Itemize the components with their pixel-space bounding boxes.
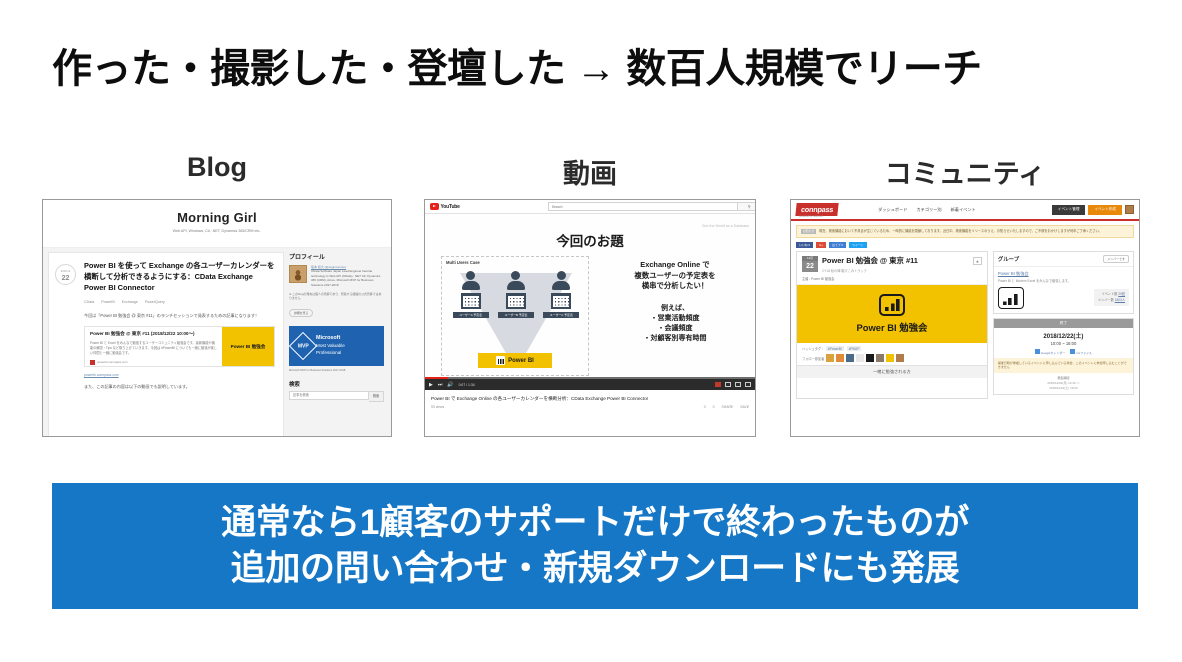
power-bi-icon xyxy=(879,294,905,316)
avatar[interactable] xyxy=(866,354,874,362)
mvp-badge-banner: MVP Microsoft Most Valuable Professional xyxy=(289,326,384,366)
event-sidebar: グループ メンバーです Power BI 勉強会 Power BI と Mode… xyxy=(993,251,1134,399)
column-header-video: 動画 xyxy=(424,152,756,191)
google-plus-button[interactable]: G+ xyxy=(816,242,826,248)
search-icon[interactable]: ⚲ xyxy=(738,202,756,211)
banner-line-1: 通常なら1顧客のサポートだけで終わったものが xyxy=(221,500,969,546)
youtube-logo[interactable]: YouTube xyxy=(430,203,460,210)
person-icon xyxy=(466,271,475,280)
embed-card-source: powerbi.connpass.com xyxy=(90,360,217,365)
google-calendar-link[interactable]: Googleカレンダー xyxy=(1035,349,1066,355)
slide-root: 作った・撮影した・登壇した → 数百人規模でリーチ Blog 動画 コミュニティ… xyxy=(0,0,1182,662)
members-count-value[interactable]: 1803人 xyxy=(1115,298,1125,302)
avatar[interactable] xyxy=(836,354,844,362)
fullscreen-icon[interactable] xyxy=(745,382,751,387)
blog-header: Morning Girl Web API, Windows, C#, .NET,… xyxy=(43,200,391,248)
avatar[interactable] xyxy=(846,354,854,362)
diagram-label: Multi Users Case xyxy=(446,260,480,265)
mvp-line1: Most Valuable xyxy=(316,342,345,349)
user-label: ユーザーA 予定表 xyxy=(453,312,489,318)
video-views: 93 views xyxy=(431,405,444,409)
person-icon xyxy=(511,271,520,280)
blog-sidebar: プロフィール 坂本 和大 (@sugimomoto) CData Softwar… xyxy=(289,252,384,437)
blog-site-title: Morning Girl xyxy=(43,200,391,225)
share-button[interactable]: SHARE xyxy=(722,405,734,409)
notice-text: 現在、検索機能において不具合が生じているため、一時的に機能を閉鎖しております。近… xyxy=(819,229,1102,234)
youtube-wordmark: YouTube xyxy=(441,204,460,210)
group-card: グループ メンバーです Power BI 勉強会 Power BI と Mode… xyxy=(993,251,1134,314)
calendar-icon xyxy=(1070,349,1075,354)
youtube-play-icon xyxy=(430,203,439,210)
slide-tagline: See the World as a Database xyxy=(702,224,749,229)
member-badge[interactable]: メンバーです xyxy=(1103,255,1129,263)
nav-new-events[interactable]: 新着イベント xyxy=(951,207,976,213)
avatar[interactable] xyxy=(876,354,884,362)
theater-icon[interactable] xyxy=(735,382,741,387)
search-button[interactable]: 検索 xyxy=(369,391,384,402)
blog-screenshot: Morning Girl Web API, Windows, C#, .NET,… xyxy=(42,199,392,437)
blog-tag[interactable]: CData xyxy=(84,300,94,304)
members-count-label: メンバー数 xyxy=(1098,298,1114,302)
play-icon[interactable]: ▶ xyxy=(429,382,433,388)
mvp-diamond-icon: MVP xyxy=(289,331,317,359)
schedule-card: 終了 2018/12/22(土) 10:00 ~ 18:00 Googleカレン… xyxy=(993,318,1134,395)
facebook-like-button[interactable]: いいね 0 xyxy=(796,242,813,248)
join-row[interactable]: 一緒に勉強される方 xyxy=(797,365,987,378)
hashtag[interactable]: #PowerBI xyxy=(826,346,844,351)
page-title: 作った・撮影した・登壇した → 数百人規模でリーチ xyxy=(52,36,982,94)
dislike-button[interactable]: 0 xyxy=(713,405,715,409)
group-stats: イベント数 20回 メンバー数 1803人 xyxy=(1094,289,1129,306)
group-name-link[interactable]: Power BI 勉強会 xyxy=(998,271,1129,277)
follow-label: フォロー参加者 xyxy=(802,356,824,361)
user-label: ユーザーB 予定表 xyxy=(498,312,534,318)
period-value: 2018/12/03(月) 12:30 ～ 2018/12/22(土) 19:0… xyxy=(994,381,1133,391)
video-player[interactable]: See the World as a Database 今回のお題 Multi … xyxy=(425,214,755,390)
blog-profile-note: ※ このblogの発言は個人の見解であり、所属する組織の公式見解ではありません xyxy=(289,292,384,301)
youtube-search-input[interactable] xyxy=(548,202,738,211)
nav-dashboard[interactable]: ダッシュボード xyxy=(878,207,907,213)
blog-footer-text: また、この記事の内容は以下の動画でも説明しています。 xyxy=(84,384,275,390)
event-subtitle: CY18 秋の陣 駆けこみトラック xyxy=(822,268,918,273)
player-time: 0:07 / 1:34 xyxy=(459,383,475,387)
event-date-badge: 12月 22 xyxy=(802,256,818,272)
mvp-line2: Professional xyxy=(316,349,345,356)
group-heading: グループ xyxy=(998,255,1019,263)
hashtag-row: ハッシュタグ : #PowerBI #PBIJP xyxy=(797,343,987,354)
person-icon xyxy=(557,271,566,280)
embed-card-desc: Power BI と Excel をみんなで勉強するユーザーコミュニティ勉強会で… xyxy=(90,341,217,356)
blog-site-subtitle: Web API, Windows, C#, .NET, Dynamics 365… xyxy=(43,229,391,233)
volume-icon[interactable]: 🔊 xyxy=(447,382,453,388)
schedule-warning: 開催日時が重複しているイベントに申し込んでいる場合、このイベントに参加申し込むこ… xyxy=(994,358,1133,373)
next-icon[interactable]: ⏭ xyxy=(438,382,443,388)
video-slide-frame: See the World as a Database 今回のお題 Multi … xyxy=(425,214,755,390)
slide-right-body: 例えば、 ・営業活動頻度 ・会議頻度 ・対顧客別専有時間 xyxy=(603,304,747,344)
column-header-blog: Blog xyxy=(42,152,392,183)
blog-tag[interactable]: PowerQuery xyxy=(145,300,165,304)
calendar-icon xyxy=(461,293,481,309)
ics-file-link[interactable]: icsファイル xyxy=(1070,349,1092,355)
summary-banner: 通常なら1顧客のサポートだけで終わったものが 追加の問い合わせ・新規ダウンロード… xyxy=(52,483,1138,609)
avatar xyxy=(289,265,307,283)
event-main: ★ 12月 22 Power BI 勉強会 @ 東京 #11 CY18 秋の陣 … xyxy=(796,251,988,399)
avatar[interactable] xyxy=(896,354,904,362)
mvp-brand: Microsoft xyxy=(316,335,340,341)
event-date: 2018/12/22(土) xyxy=(994,328,1133,341)
embed-card-thumb: Power BI 勉強会 xyxy=(222,327,274,366)
events-count-value[interactable]: 20回 xyxy=(1118,292,1125,296)
manage-event-button[interactable]: イベント管理 xyxy=(1052,205,1086,215)
user-node: ユーザーC 予定表 xyxy=(543,271,579,318)
registration-period: 募集期間 2018/12/03(月) 12:30 ～ 2018/12/22(土)… xyxy=(994,373,1133,394)
blog-tag[interactable]: PowerBI xyxy=(101,300,115,304)
user-node: ユーザーA 予定表 xyxy=(453,271,489,318)
avatar[interactable] xyxy=(886,354,894,362)
nav-categories[interactable]: カテゴリー別 xyxy=(916,207,941,213)
connpass-nav: ダッシュボード カテゴリー別 新着イベント xyxy=(878,207,976,213)
blog-date-badge: 2018.12 22 xyxy=(55,264,76,285)
blog-body: 2018.12 22 Power BI を使って Exchange の各ユーザー… xyxy=(43,248,391,437)
blog-tag-list: CData PowerBI Exchange PowerQuery xyxy=(84,300,275,304)
bookmark-star-icon[interactable]: ★ xyxy=(973,257,982,265)
event-day: 22 xyxy=(802,261,818,272)
user-label: ユーザーC 予定表 xyxy=(543,312,579,318)
video-title: Power BI で Exchange Online の各ユーザーカレンダーを横… xyxy=(431,395,749,402)
blog-profile-heading: プロフィール xyxy=(289,252,384,261)
connpass-header: connpass powered by beproud ダッシュボード カテゴリ… xyxy=(791,200,1139,221)
community-screenshot: connpass powered by beproud ダッシュボード カテゴリ… xyxy=(790,199,1140,437)
hashtag[interactable]: #PBIJP xyxy=(847,346,862,351)
video-screenshot: YouTube ⚲ See the World as a Database 今回… xyxy=(424,199,756,437)
settings-icon[interactable] xyxy=(725,382,731,387)
progress-bar[interactable] xyxy=(425,377,755,379)
avatar[interactable] xyxy=(1125,205,1134,214)
avatar[interactable] xyxy=(826,354,834,362)
calendar-icon xyxy=(1035,349,1040,354)
blog-embed-card[interactable]: Power BI 勉強会 @ 東京 #11 (2018/12/22 10:00〜… xyxy=(84,326,275,367)
search-input[interactable] xyxy=(289,391,369,400)
power-bi-icon xyxy=(496,356,505,365)
power-bi-output-box: Power BI xyxy=(478,353,552,368)
follower-row: フォロー参加者 xyxy=(797,354,987,365)
blog-intro-text: 今回は「Power BI 勉強会 @ 東京 #11」のランチセッションで発表する… xyxy=(84,312,275,319)
blog-tag[interactable]: Exchange xyxy=(122,300,138,304)
blog-article: 2018.12 22 Power BI を使って Exchange の各ユーザー… xyxy=(48,252,284,437)
banner-line-2: 追加の問い合わせ・新規ダウンロードにも発展 xyxy=(231,546,960,592)
embed-card-title: Power BI 勉強会 @ 東京 #11 (2018/12/22 10:00〜… xyxy=(90,331,217,338)
avatar[interactable] xyxy=(856,354,864,362)
user-node: ユーザーB 予定表 xyxy=(498,271,534,318)
connpass-favicon-icon xyxy=(90,360,95,365)
calendar-icon xyxy=(551,293,571,309)
event-title: Power BI 勉強会 @ 東京 #11 xyxy=(822,256,918,266)
events-count-label: イベント数 xyxy=(1101,292,1117,296)
event-banner-text: Power BI 勉強会 xyxy=(857,320,928,334)
captions-icon[interactable] xyxy=(715,382,721,387)
like-button[interactable]: 0 xyxy=(704,405,706,409)
slide-right-heading: Exchange Online で 複数ユーザーの予定表を 横串で分析したい！ xyxy=(603,260,747,292)
blog-external-link[interactable]: powerbi.connpass.com xyxy=(84,373,275,377)
save-button[interactable]: SAVE xyxy=(740,405,749,409)
power-bi-icon xyxy=(998,287,1024,309)
site-notice: お知らせ 現在、検索機能において不具合が生じているため、一時的に機能を閉鎖してお… xyxy=(796,225,1134,238)
status-badge: 終了 xyxy=(994,319,1133,328)
blog-profile-button[interactable]: 詳細を見る xyxy=(289,309,313,317)
blog-search-heading: 検索 xyxy=(289,380,384,388)
hashtag-label: ハッシュタグ : xyxy=(802,346,823,351)
blog-post-title[interactable]: Power BI を使って Exchange の各ユーザーカレンダーを横断して分… xyxy=(84,260,275,293)
column-header-community: コミュニティ xyxy=(790,152,1140,191)
blog-date-month: 2018.12 xyxy=(56,265,75,275)
social-buttons: いいね 0 G+ はてブ 0 ツイート xyxy=(791,242,1139,251)
mvp-caption: Microsoft MVP for Business Solutions 201… xyxy=(289,369,384,372)
slide-heading: 今回のお題 xyxy=(425,230,755,250)
create-event-button[interactable]: イベント作成 xyxy=(1088,205,1122,215)
group-description: Power BI と Modern Excel をみんなで勉強します。 xyxy=(998,279,1129,284)
player-controls[interactable]: ▶ ⏭ 🔊 0:07 / 1:34 xyxy=(425,379,755,390)
multi-users-diagram: Multi Users Case ユーザーA 予定表 ユーザーB 予定表 xyxy=(441,256,589,376)
video-meta: Power BI で Exchange Online の各ユーザーカレンダーを横… xyxy=(425,390,755,414)
youtube-header: YouTube ⚲ xyxy=(425,200,755,214)
blog-date-day: 22 xyxy=(56,275,75,283)
calendar-icon xyxy=(506,293,526,309)
twitter-share-button[interactable]: ツイート xyxy=(849,242,867,248)
breadcrumb: 主催 : Power BI 勉強会 xyxy=(797,276,987,285)
event-banner: Power BI 勉強会 xyxy=(797,285,987,343)
hatena-bookmark-button[interactable]: はてブ 0 xyxy=(829,242,846,248)
notice-label: お知らせ xyxy=(801,229,816,234)
blog-author-link[interactable]: 坂本 和大 (@sugimomoto) xyxy=(311,265,346,269)
blog-profile-bio: 坂本 和大 (@sugimomoto) CData Software Japan… xyxy=(311,265,384,287)
connpass-logo-sub: powered by beproud xyxy=(799,215,823,218)
